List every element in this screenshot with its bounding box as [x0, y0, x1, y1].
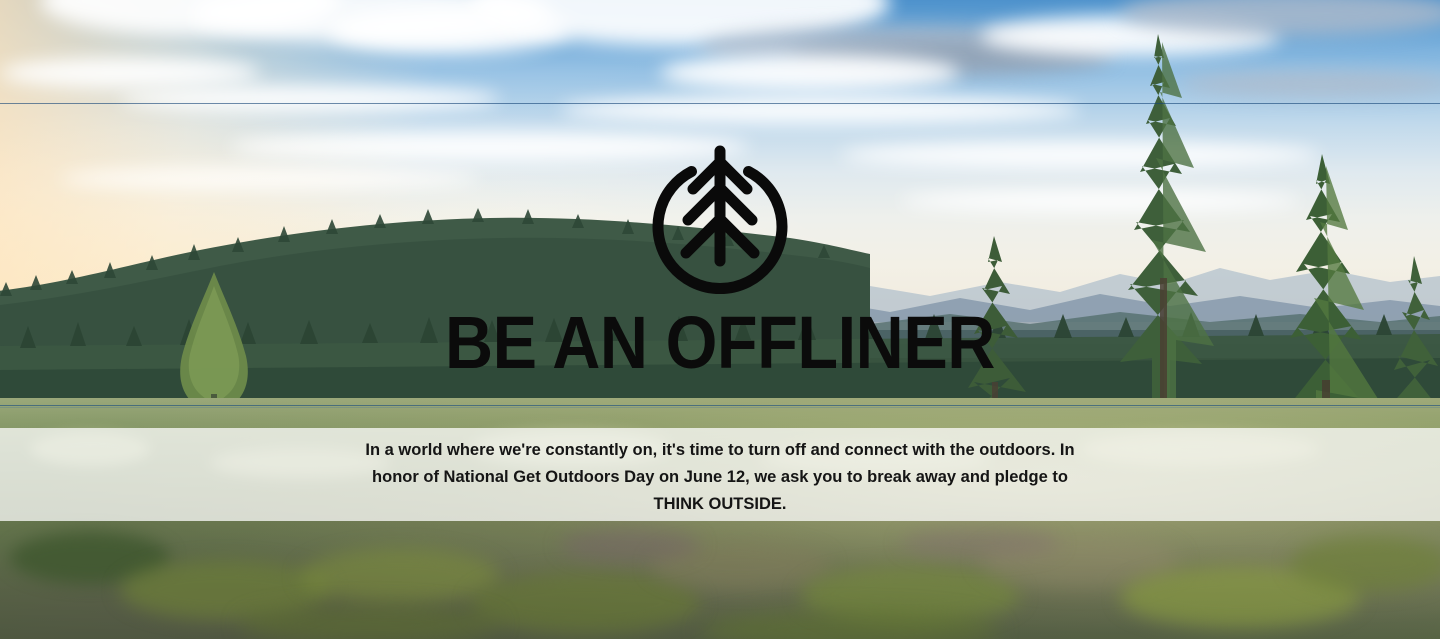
hero-copy-text: In a world where we're constantly on, it… — [364, 437, 1076, 518]
hero-copy: In a world where we're constantly on, it… — [0, 437, 1440, 518]
logo-container — [0, 133, 1440, 305]
hero-section: BE AN OFFLINER In a world where we're co… — [0, 0, 1440, 639]
page-title: BE AN OFFLINER — [72, 306, 1368, 380]
pine-tree-power-circle-icon — [642, 133, 798, 305]
hero-content: BE AN OFFLINER In a world where we're co… — [0, 0, 1440, 639]
